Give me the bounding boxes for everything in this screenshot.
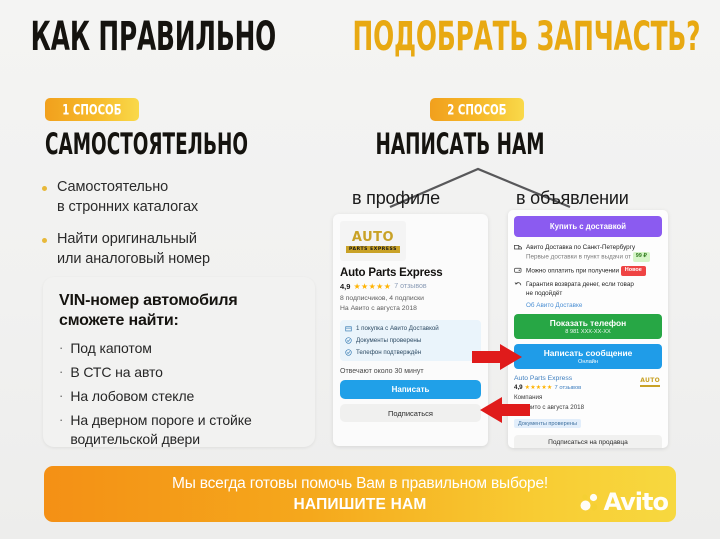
seller-type: Компания (514, 393, 662, 402)
delivery-line2: Можно оплатить при получении (526, 268, 619, 275)
delivery-info-row: Гарантия возврата денег, если товар не п… (514, 280, 662, 298)
seller-profile-card: AUTO PARTS EXPRESS Auto Parts Express 4,… (333, 214, 488, 446)
vin-item-text: На дверном пороге и стойке водительской … (70, 411, 251, 449)
way1-bullet-list: Самостоятельно в стронних каталогах Найт… (42, 178, 322, 282)
avito-wordmark: Avito (603, 488, 668, 516)
member-since: На Авито с августа 2018 (340, 304, 481, 314)
delivery-info-row: Можно оплатить при получении Новое (514, 266, 662, 276)
bullet-dash-icon: · (59, 339, 63, 357)
delivery-line3: Гарантия возврата денег, если товар не п… (526, 280, 634, 298)
vin-info-card: VIN-номер автомобиля сможете найти: · По… (43, 277, 315, 447)
list-item: · На лобовом стекле (59, 387, 299, 406)
bullet-dash-icon: · (59, 363, 63, 381)
branch-label-advert: в объявлении (516, 188, 629, 209)
logo-sub-text: PARTS EXPRESS (346, 246, 400, 253)
arrow-left-icon (478, 396, 530, 424)
bullet-text: Самостоятельно в стронних каталогах (57, 178, 198, 217)
seller-reviews-link[interactable]: 7 отзывов (555, 385, 582, 391)
seller-since: На Авито с августа 2018 (514, 403, 662, 412)
arrow-right-icon (472, 343, 524, 371)
vin-item-text: Под капотом (70, 339, 151, 358)
avito-dots-icon (580, 492, 600, 512)
trust-badges-box: 1 покупка с Авито Доставкой Документы пр… (340, 320, 481, 361)
write-message-button[interactable]: Написать сообщение Онлайн (514, 344, 662, 369)
wallet-icon (514, 266, 522, 274)
delivery-info-row: Авито Доставка по Санкт-Петербургу Первы… (514, 243, 662, 262)
star-rating-icon: ★★★★★ (525, 384, 553, 391)
trust-badge-row: Документы проверены (345, 337, 476, 344)
bullet-dot-icon (42, 238, 47, 243)
title-black-part: КАК ПРАВИЛЬНО (31, 17, 276, 57)
list-item: · На дверном пороге и стойке водительско… (59, 411, 299, 449)
bullet-dash-icon: · (59, 387, 63, 405)
online-status: Онлайн (578, 359, 598, 365)
seller-logo: AUTO (640, 377, 660, 387)
bullet-dash-icon: · (59, 411, 63, 429)
trust-badge-text: Телефон подтверждён (356, 349, 421, 356)
delivery-line1-sub: Первые доставки в пункт выдачи от (526, 254, 631, 261)
trust-badge-row: 1 покупка с Авито Доставкой (345, 325, 476, 332)
cta-banner: Мы всегда готовы помочь Вам в правильном… (44, 466, 676, 522)
infographic-page: КАК ПРАВИЛЬНО ПОДОБРАТЬ ЗАПЧАСТЬ? 1 СПОС… (0, 0, 720, 539)
write-message-label: Написать сообщение (544, 348, 633, 358)
about-delivery-link[interactable]: Об Авито Доставке (526, 302, 662, 309)
shop-name: Auto Parts Express (340, 267, 481, 279)
check-circle-icon (345, 349, 352, 356)
vin-item-text: На лобовом стекле (70, 387, 194, 406)
banner-line1: Мы всегда готовы помочь Вам в правильном… (172, 475, 548, 493)
auto-parts-express-logo: AUTO PARTS EXPRESS (340, 221, 406, 261)
return-arrow-icon (514, 280, 522, 288)
page-title: КАК ПРАВИЛЬНО ПОДОБРАТЬ ЗАПЧАСТЬ? (0, 22, 720, 53)
show-phone-number: 8 981 XXX-XX-XX (565, 329, 610, 335)
title-gold-part: ПОДОБРАТЬ ЗАПЧАСТЬ? (353, 17, 701, 57)
way2-badge-label: 2 СПОСОБ (447, 101, 506, 117)
trust-badge-row: Телефон подтверждён (345, 349, 476, 356)
subscribe-button[interactable]: Подписаться (340, 404, 481, 422)
trust-badge-text: Документы проверены (356, 337, 421, 344)
advert-sidebar-card: Купить с доставкой Авито Доставка по Сан… (508, 210, 668, 448)
branch-label-profile: в профиле (352, 188, 440, 209)
new-badge: Новое (621, 266, 646, 276)
buy-with-delivery-button[interactable]: Купить с доставкой (514, 216, 662, 237)
rating-value: 4,9 (340, 282, 350, 291)
delivery-line1: Авито Доставка по Санкт-Петербургу (526, 244, 635, 251)
logo-main-text: AUTO (352, 229, 394, 245)
vin-card-heading: VIN-номер автомобиля сможете найти: (59, 291, 299, 332)
answer-time-text: Отвечают около 30 минут (340, 368, 481, 375)
bullet-text: Найти оригинальный или аналоговый номер (57, 230, 210, 269)
seller-rating-value: 4,9 (514, 384, 523, 391)
delivery-box-icon (345, 325, 352, 332)
show-phone-label: Показать телефон (550, 318, 626, 328)
reviews-link[interactable]: 7 отзывов (394, 283, 426, 290)
followers-count: 8 подписчиков, 4 подписки (340, 294, 481, 304)
way1-badge: 1 СПОСОБ (45, 98, 139, 121)
list-item: · В СТС на авто (59, 363, 299, 382)
way1-badge-label: 1 СПОСОБ (62, 101, 121, 117)
list-item: Самостоятельно в стронних каталогах (42, 178, 322, 217)
rating-row: 4,9 ★★★★★ 7 отзывов (340, 282, 481, 291)
vin-item-text: В СТС на авто (70, 363, 163, 382)
avito-logo: Avito (580, 488, 668, 516)
show-phone-button[interactable]: Показать телефон 8 981 XXX-XX-XX (514, 314, 662, 339)
bullet-dot-icon (42, 186, 47, 191)
list-item: Найти оригинальный или аналоговый номер (42, 230, 322, 269)
write-button[interactable]: Написать (340, 380, 481, 399)
delivery-price-pill: 99 ₽ (633, 252, 650, 262)
star-rating-icon: ★★★★★ (353, 282, 391, 291)
subscribe-seller-button[interactable]: Подписаться на продавца (514, 435, 662, 448)
delivery-truck-icon (514, 243, 522, 251)
seller-block: AUTO Auto Parts Express 4,9 ★★★★★ 7 отзы… (514, 375, 662, 430)
trust-badge-text: 1 покупка с Авито Доставкой (356, 325, 439, 332)
list-item: · Под капотом (59, 339, 299, 358)
banner-line2: НАПИШИТЕ НАМ (294, 496, 427, 514)
way2-badge: 2 СПОСОБ (430, 98, 524, 121)
check-circle-icon (345, 337, 352, 344)
